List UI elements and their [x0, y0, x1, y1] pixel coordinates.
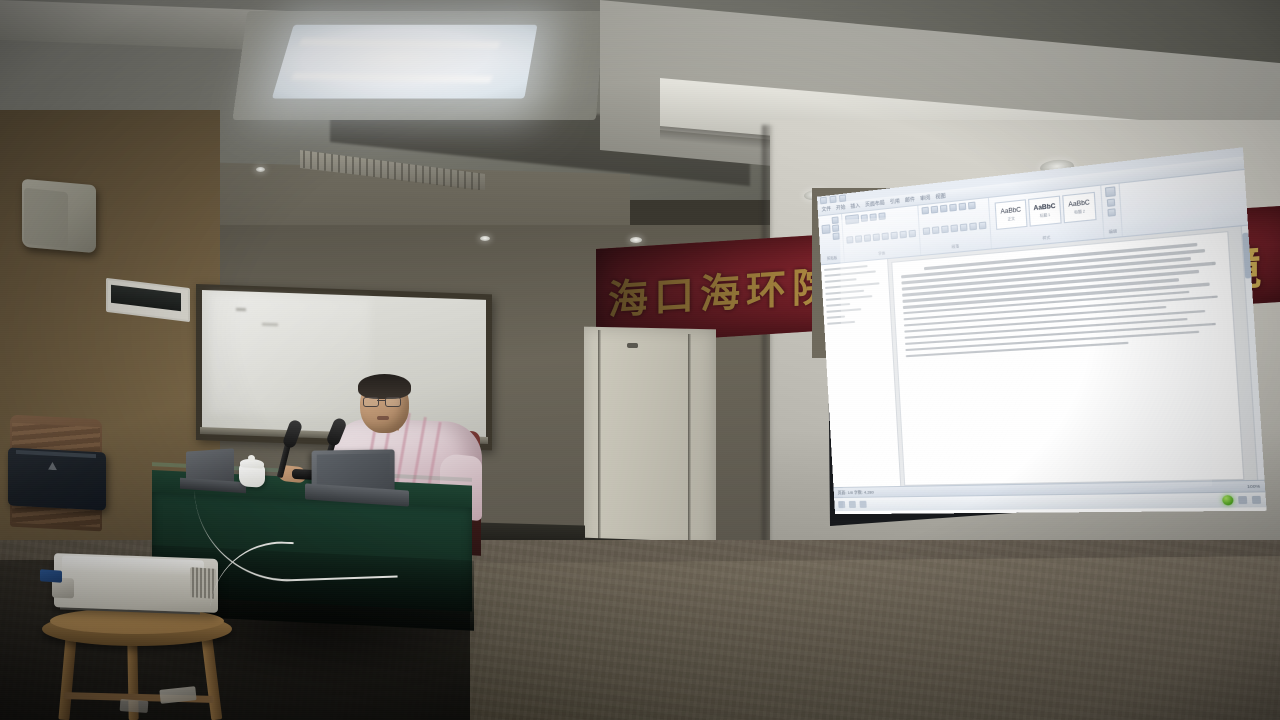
vga-cable-connector — [40, 569, 62, 583]
align-left-icon[interactable] — [923, 227, 931, 235]
glasses-icon — [363, 397, 379, 407]
photo-scene: 海口海环院环 境 文件 开始 插入 页面布局 引用 邮件 审阅 — [0, 0, 1280, 720]
subscript-icon[interactable] — [882, 232, 889, 240]
font-name-combo[interactable] — [845, 214, 859, 224]
find-icon[interactable] — [1105, 186, 1116, 197]
undo-icon[interactable] — [829, 195, 836, 203]
tab-view[interactable]: 视图 — [935, 192, 946, 200]
tab-references[interactable]: 引用 — [890, 197, 900, 205]
ceiling-downlight-icon — [480, 236, 490, 241]
borders-icon[interactable] — [979, 221, 987, 229]
navigation-pane-line[interactable] — [825, 278, 857, 283]
font-color-icon[interactable] — [909, 229, 917, 237]
antivirus-tray-icon[interactable] — [1222, 495, 1234, 505]
network-tray-icon[interactable] — [1238, 496, 1247, 504]
strikethrough-icon[interactable] — [873, 233, 880, 241]
replace-icon[interactable] — [1107, 198, 1116, 206]
style-name: 标题 2 — [1074, 208, 1085, 215]
partition-handle[interactable] — [627, 343, 638, 348]
volume-tray-icon[interactable] — [1252, 496, 1261, 504]
whiteboard-mark — [262, 323, 278, 327]
shading-icon[interactable] — [969, 222, 977, 230]
start-button-icon[interactable] — [838, 501, 845, 508]
redo-icon[interactable] — [839, 194, 846, 202]
partition-seam — [598, 330, 601, 550]
decrease-indent-icon[interactable] — [949, 204, 957, 212]
style-gallery[interactable]: AaBbC 正文 AaBbC 标题 1 AaBbC 标题 2 — [992, 188, 1099, 233]
multilevel-list-icon[interactable] — [940, 205, 948, 213]
navigation-pane-line[interactable] — [825, 282, 879, 289]
tab-page-layout[interactable]: 页面布局 — [865, 199, 885, 208]
ribbon-group-styles[interactable]: AaBbC 正文 AaBbC 标题 1 AaBbC 标题 2 样式 — [989, 186, 1105, 249]
status-left-text: 页面: 1/8 字数: 4,280 — [837, 489, 874, 496]
format-painter-icon[interactable] — [833, 232, 840, 240]
cut-icon[interactable] — [832, 216, 839, 224]
taskbar-app-icon[interactable] — [859, 501, 866, 508]
partition-seam — [688, 334, 691, 550]
numbering-icon[interactable] — [931, 206, 939, 214]
text-highlight-icon[interactable] — [899, 230, 906, 238]
navigation-pane-line[interactable] — [826, 303, 850, 307]
hvac-vent-icon — [300, 144, 485, 196]
ribbon-group-editing[interactable]: 编辑 — [1101, 184, 1123, 238]
select-icon[interactable] — [1107, 208, 1116, 216]
navigation-pane-line[interactable] — [826, 295, 873, 301]
tab-mailings[interactable]: 邮件 — [905, 196, 916, 204]
font-size-combo[interactable] — [861, 214, 868, 222]
underline-icon[interactable] — [864, 234, 871, 242]
align-right-icon[interactable] — [941, 225, 949, 233]
italic-icon[interactable] — [855, 235, 862, 243]
navigation-pane-line[interactable] — [827, 321, 855, 325]
glasses-bridge — [377, 400, 385, 401]
navigation-pane-line[interactable] — [826, 308, 861, 313]
presenter-mouth — [377, 416, 389, 420]
partition-doors[interactable] — [584, 327, 716, 552]
whiteboard-mark — [236, 308, 246, 311]
style-name: 标题 1 — [1040, 212, 1051, 218]
sort-icon[interactable] — [968, 202, 976, 210]
document-page[interactable] — [891, 231, 1244, 486]
copy-icon[interactable] — [832, 224, 839, 232]
taskbar-app-icon[interactable] — [849, 501, 856, 508]
increase-indent-icon[interactable] — [959, 203, 967, 211]
superscript-icon[interactable] — [890, 231, 897, 239]
tab-review[interactable]: 审阅 — [920, 194, 931, 202]
grow-font-icon[interactable] — [870, 213, 877, 221]
style-preview: AaBbC — [1068, 200, 1090, 209]
style-name: 正文 — [1007, 215, 1015, 221]
bullets-icon[interactable] — [921, 207, 929, 215]
tab-home[interactable]: 开始 — [836, 204, 846, 212]
navigation-pane-line[interactable] — [827, 316, 845, 319]
shrink-font-icon[interactable] — [878, 212, 885, 220]
save-icon[interactable] — [820, 196, 827, 204]
word-document-area[interactable] — [821, 226, 1265, 487]
ceiling-downlight-icon — [256, 167, 265, 172]
justify-icon[interactable] — [950, 224, 958, 232]
style-preview: AaBbC — [1000, 207, 1021, 215]
ribbon-group-label: 编辑 — [1108, 229, 1119, 235]
tab-insert[interactable]: 插入 — [850, 202, 860, 210]
fluorescent-light-panel-icon — [272, 25, 538, 99]
line-spacing-icon[interactable] — [960, 223, 968, 231]
style-chip-normal[interactable]: AaBbC 正文 — [995, 199, 1028, 230]
ribbon-group-font[interactable]: 字体 — [842, 206, 921, 262]
tab-file[interactable]: 文件 — [821, 205, 831, 213]
projected-word-window[interactable]: 文件 开始 插入 页面布局 引用 邮件 审阅 视图 剪贴板 — [817, 147, 1267, 514]
bold-icon[interactable] — [846, 236, 853, 244]
presenter-hair — [358, 374, 411, 399]
whiteboard-glare — [210, 293, 370, 419]
navigation-pane-line[interactable] — [825, 290, 863, 295]
floor-debris — [120, 699, 149, 713]
paste-icon[interactable] — [821, 224, 830, 234]
ribbon-group-paragraph[interactable]: 段落 — [918, 198, 992, 255]
zoom-level[interactable]: 100% — [1247, 483, 1260, 489]
navigation-pane-line[interactable] — [824, 270, 876, 277]
navigation-pane-line[interactable] — [824, 265, 867, 271]
wall-speaker-face — [24, 188, 68, 249]
teacup-knob — [248, 455, 255, 461]
glasses-icon — [385, 397, 401, 407]
ceiling-downlight-icon — [630, 237, 642, 243]
navigation-pane[interactable] — [821, 259, 901, 487]
align-center-icon[interactable] — [932, 226, 940, 234]
style-chip-heading1[interactable]: AaBbC 标题 1 — [1028, 196, 1062, 227]
style-chip-heading2[interactable]: AaBbC 标题 2 — [1062, 192, 1096, 223]
ribbon-group-clipboard[interactable]: 剪贴板 — [818, 214, 845, 264]
ribbon-group-label: 剪贴板 — [823, 255, 841, 262]
style-preview: AaBbC — [1033, 204, 1055, 213]
